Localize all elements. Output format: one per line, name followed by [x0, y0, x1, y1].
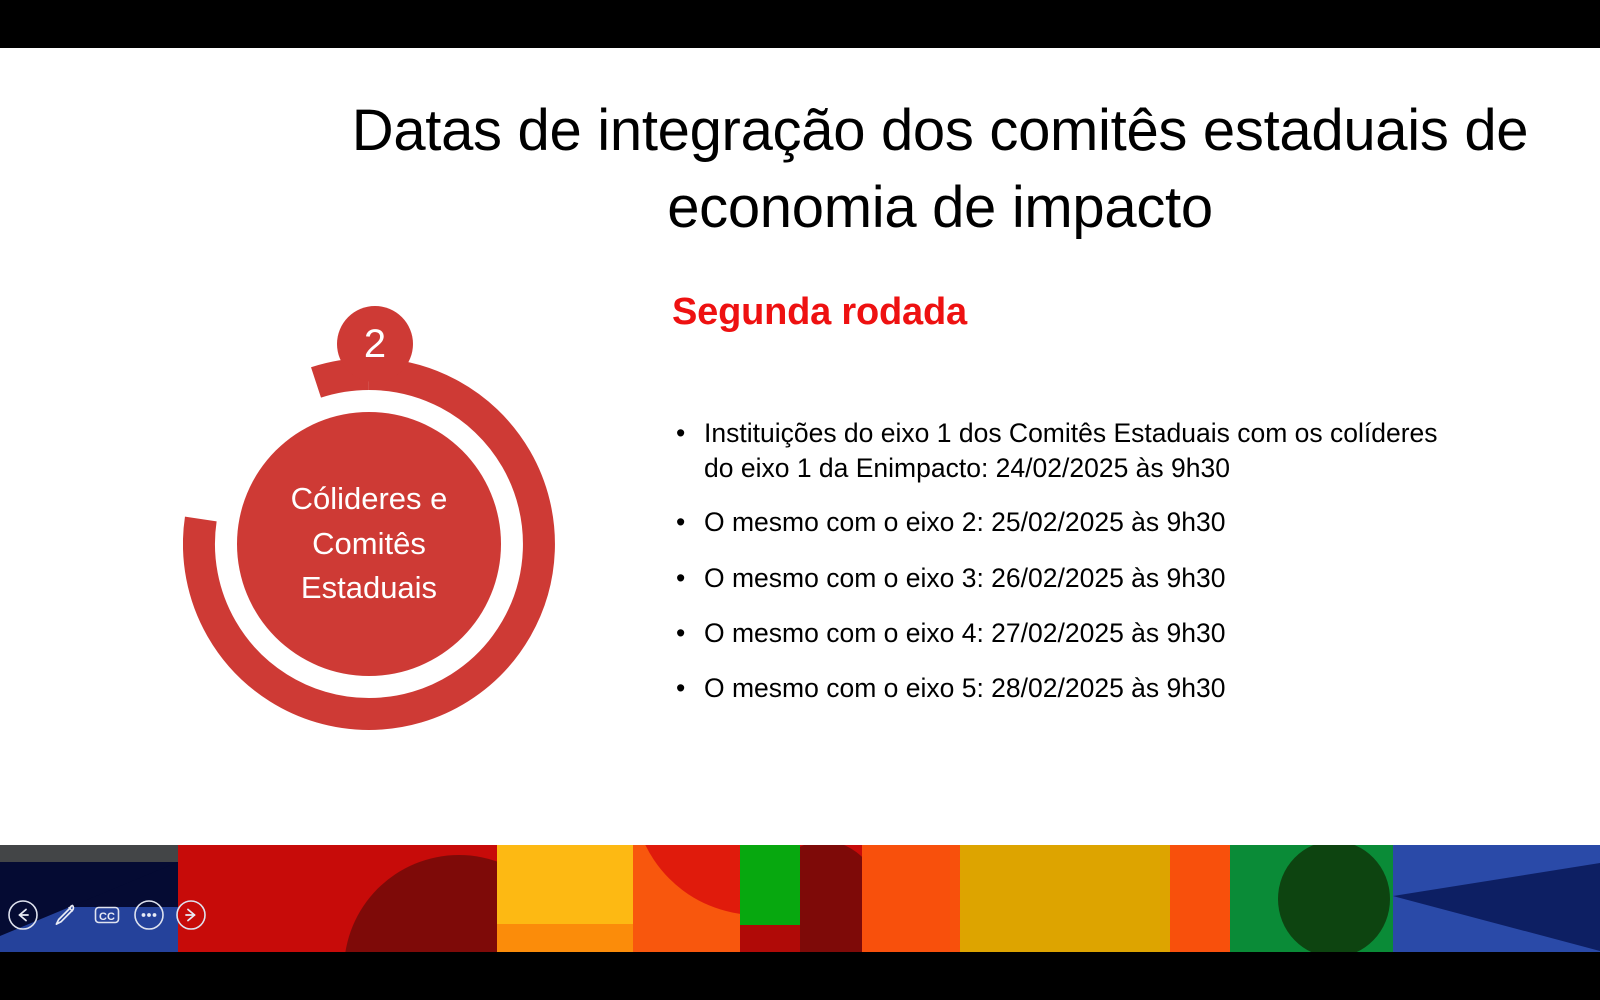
list-item-text: Instituições do eixo 1 dos Comitês Estad…: [704, 418, 1438, 483]
list-item-text: O mesmo com o eixo 4: 27/02/2025 às 9h30: [704, 618, 1225, 648]
band-segment-orange: [1170, 845, 1230, 952]
band-segment-orange: [633, 845, 740, 952]
arrow-left-circle-icon[interactable]: [6, 898, 40, 932]
bullet-list: • Instituições do eixo 1 dos Comitês Est…: [670, 416, 1460, 726]
svg-text:CC: CC: [99, 911, 115, 923]
diagram-center: Cólideres e Comitês Estaduais: [237, 412, 501, 676]
letterbox-bottom: [0, 952, 1600, 1000]
diagram-center-label: Cólideres e Comitês Estaduais: [237, 477, 501, 612]
band-shape-strip: [740, 925, 800, 952]
list-item: • O mesmo com o eixo 3: 26/02/2025 às 9h…: [670, 561, 1460, 596]
band-segment-green: [740, 845, 800, 952]
presentation-toolbar[interactable]: CC: [6, 898, 208, 932]
band-segment-gold: [497, 845, 633, 952]
band-segment-blue: [1393, 845, 1600, 952]
list-item: • O mesmo com o eixo 4: 27/02/2025 às 9h…: [670, 616, 1460, 651]
thumbnail-topbar: [0, 845, 178, 862]
bullet-marker: •: [676, 416, 685, 451]
list-item-text: O mesmo com o eixo 2: 25/02/2025 às 9h30: [704, 507, 1225, 537]
band-segment-red: [178, 845, 497, 952]
circle-diagram: Cólideres e Comitês Estaduais 2: [175, 296, 575, 716]
diagram-step-badge: 2: [337, 306, 413, 382]
band-segment-orange: [862, 845, 960, 952]
band-segment-green: [1230, 845, 1393, 952]
list-item-text: O mesmo com o eixo 3: 26/02/2025 às 9h30: [704, 563, 1225, 593]
list-item: • O mesmo com o eixo 2: 25/02/2025 às 9h…: [670, 505, 1460, 540]
band-shape-ellipse: [800, 845, 862, 952]
band-shape-circle: [1278, 845, 1390, 952]
band-shape-quarter-circle: [633, 845, 740, 915]
list-item: • Instituições do eixo 1 dos Comitês Est…: [670, 416, 1460, 486]
presentation-viewport: Datas de integração dos comitês estaduai…: [0, 0, 1600, 1000]
band-shape-ellipse: [344, 855, 497, 952]
letterbox-top: [0, 0, 1600, 48]
slide-canvas: Datas de integração dos comitês estaduai…: [0, 48, 1600, 952]
bullet-marker: •: [676, 616, 685, 651]
band-shape-strip: [497, 924, 633, 952]
bullet-marker: •: [676, 671, 685, 706]
section-subheading: Segunda rodada: [672, 291, 967, 334]
band-segment-dark-red: [800, 845, 862, 952]
decorative-footer-band: [0, 845, 1600, 952]
bullet-marker: •: [676, 505, 685, 540]
diagram-step-number: 2: [364, 324, 386, 364]
ellipsis-circle-icon[interactable]: [132, 898, 166, 932]
page-title: Datas de integração dos comitês estaduai…: [330, 93, 1550, 246]
list-item: • O mesmo com o eixo 5: 28/02/2025 às 9h…: [670, 671, 1460, 706]
band-segment-gold: [960, 845, 1170, 952]
arrow-right-circle-icon[interactable]: [174, 898, 208, 932]
list-item-text: O mesmo com o eixo 5: 28/02/2025 às 9h30: [704, 673, 1225, 703]
bullet-marker: •: [676, 561, 685, 596]
pen-icon[interactable]: [48, 898, 82, 932]
cc-icon[interactable]: CC: [90, 898, 124, 932]
band-shape-triangle: [1393, 863, 1600, 951]
